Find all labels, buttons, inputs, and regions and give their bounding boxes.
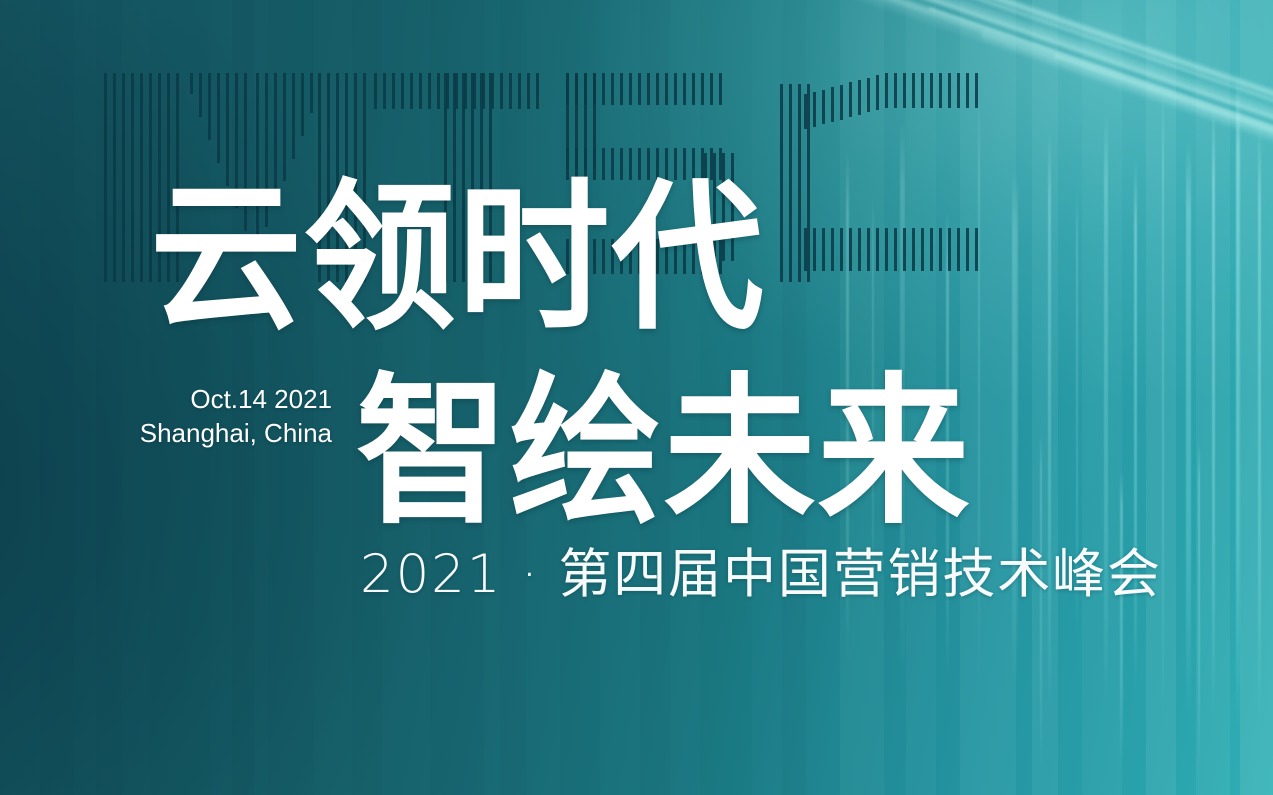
- poster-canvas: Oct.14 2021 Shanghai, China 云领时代 智绘未来 20…: [0, 0, 1273, 795]
- headline-line-2: 智绘未来: [356, 372, 971, 533]
- event-location: Shanghai, China: [60, 416, 332, 450]
- event-date: Oct.14 2021: [190, 384, 332, 414]
- headline-line-1: 云领时代: [150, 178, 765, 339]
- event-subtitle: 2021 · 第四届中国营销技术峰会: [360, 548, 1162, 601]
- event-meta: Oct.14 2021 Shanghai, China: [60, 382, 332, 451]
